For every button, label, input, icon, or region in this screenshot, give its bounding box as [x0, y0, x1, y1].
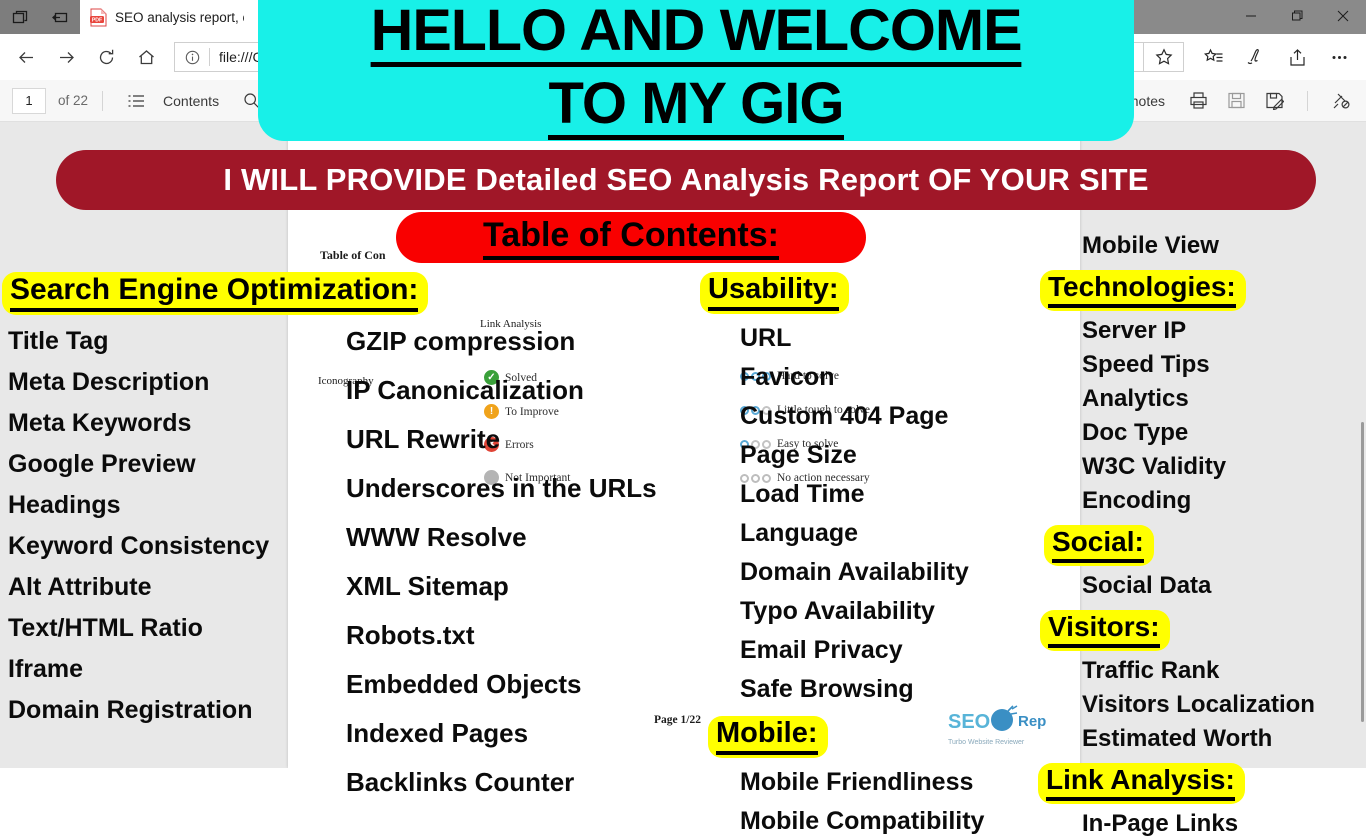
list-item: In-Page Links: [1082, 810, 1315, 838]
visitors-heading-text: Visitors:: [1048, 611, 1160, 648]
refresh-icon[interactable]: [86, 37, 126, 77]
toc-banner: Table of Contents:: [396, 212, 866, 263]
list-item: Social Data: [1082, 572, 1315, 600]
list-item: Embedded Objects: [346, 669, 657, 700]
technologies-heading-text: Technologies:: [1048, 271, 1236, 308]
more-options-icon[interactable]: [1318, 37, 1360, 77]
social-heading-text: Social:: [1052, 526, 1144, 563]
share-icon[interactable]: [1276, 37, 1318, 77]
list-item: URL: [740, 324, 984, 353]
vertical-scrollbar[interactable]: [1361, 422, 1364, 722]
mobile-heading-text: Mobile:: [716, 717, 818, 755]
list-item: Underscores in the URLs: [346, 473, 657, 504]
pdf-page-footer: Page 1/22: [654, 714, 701, 726]
list-item: Robots.txt: [346, 620, 657, 651]
list-item: Custom 404 Page: [740, 402, 984, 431]
list-item: Encoding: [1082, 487, 1315, 515]
pdf-heading: Table of Con: [320, 248, 386, 263]
welcome-line-1: HELLO AND WELCOME: [371, 2, 1022, 67]
unpin-icon[interactable]: [1322, 86, 1360, 116]
list-item: Mobile Compatibility: [740, 807, 984, 836]
social-heading: Social:: [1044, 525, 1154, 566]
list-item: Visitors Localization: [1082, 691, 1315, 719]
list-item: Page Size: [740, 441, 984, 470]
link-analysis-heading-text: Link Analysis:: [1046, 764, 1235, 801]
save-as-icon[interactable]: [1255, 86, 1293, 116]
usability-heading-text: Usability:: [708, 273, 839, 311]
list-item: Mobile Friendliness: [740, 768, 984, 797]
section-usability: Usability: URL Favicon Custom 404 Page P…: [700, 272, 984, 836]
list-item: Traffic Rank: [1082, 657, 1315, 685]
list-item: Safe Browsing: [740, 675, 984, 704]
list-item: Backlinks Counter: [346, 767, 657, 798]
set-tabs-aside-icon[interactable]: [40, 0, 80, 34]
window-controls: [1228, 0, 1366, 32]
back-arrow-icon[interactable]: [6, 37, 46, 77]
list-item: GZIP compression: [346, 326, 657, 357]
toolbar-divider: [102, 91, 103, 111]
list-item: Mobile View: [1082, 232, 1315, 260]
promise-text: I WILL PROVIDE Detailed SEO Analysis Rep…: [223, 162, 1148, 198]
visitors-heading: Visitors:: [1040, 610, 1170, 651]
list-item: XML Sitemap: [346, 571, 657, 602]
info-icon: [175, 50, 209, 65]
list-icon: [117, 86, 155, 116]
link-analysis-heading: Link Analysis:: [1038, 763, 1245, 804]
section-seo-continued: GZIP compression IP Canonicalization URL…: [346, 326, 657, 816]
svg-text:PDF: PDF: [92, 17, 102, 23]
usability-heading: Usability:: [700, 272, 849, 314]
list-item: Analytics: [1082, 385, 1315, 413]
forward-arrow-icon[interactable]: [46, 37, 86, 77]
promise-banner: I WILL PROVIDE Detailed SEO Analysis Rep…: [56, 150, 1316, 210]
print-icon[interactable]: [1179, 86, 1217, 116]
list-item: Favicon: [740, 363, 984, 392]
list-item: W3C Validity: [1082, 453, 1315, 481]
mobile-heading: Mobile:: [708, 716, 828, 758]
web-notes-icon[interactable]: [1234, 37, 1276, 77]
welcome-banner: HELLO AND WELCOME TO MY GIG: [258, 0, 1134, 141]
contents-label: Contents: [163, 93, 219, 109]
browser-tab[interactable]: PDF SEO analysis report, cor ×: [80, 0, 280, 34]
home-icon[interactable]: [126, 37, 166, 77]
list-item: Indexed Pages: [346, 718, 657, 749]
list-item: Email Privacy: [740, 636, 984, 665]
list-item: Language: [740, 519, 984, 548]
toc-title: Table of Contents:: [483, 216, 779, 260]
seo-heading: Search Engine Optimization:: [2, 272, 428, 315]
page-number-input[interactable]: 1: [12, 88, 46, 114]
minimize-icon[interactable]: [1228, 0, 1274, 32]
pdf-toolbar-right: add notes: [1104, 86, 1361, 116]
favorites-list-icon[interactable]: [1192, 37, 1234, 77]
list-item: Typo Availability: [740, 597, 984, 626]
save-icon[interactable]: [1217, 86, 1255, 116]
technologies-heading: Technologies:: [1040, 270, 1246, 311]
page-total-label: of 22: [58, 93, 88, 108]
pdf-icon: PDF: [90, 8, 107, 27]
list-item: IP Canonicalization: [346, 375, 657, 406]
list-item: Domain Availability: [740, 558, 984, 587]
close-icon[interactable]: [1320, 0, 1366, 32]
contents-button[interactable]: Contents: [117, 86, 219, 116]
list-item: Doc Type: [1082, 419, 1315, 447]
list-item: WWW Resolve: [346, 522, 657, 553]
section-technologies: Mobile View Technologies: Server IP Spee…: [1040, 232, 1315, 838]
list-item: Speed Tips: [1082, 351, 1315, 379]
seo-heading-text: Search Engine Optimization:: [10, 273, 418, 312]
star-icon[interactable]: [1144, 42, 1184, 72]
list-item: Estimated Worth: [1082, 725, 1315, 753]
list-item: URL Rewrite: [346, 424, 657, 455]
list-item: Server IP: [1082, 317, 1315, 345]
browser-window: PDF SEO analysis report, cor × +: [0, 0, 1366, 768]
maximize-icon[interactable]: [1274, 0, 1320, 32]
list-item: Load Time: [740, 480, 984, 509]
tab-title: SEO analysis report, cor: [115, 10, 244, 25]
tab-preview-icon[interactable]: [0, 0, 40, 34]
welcome-line-2: TO MY GIG: [548, 75, 843, 140]
toolbar-divider-2: [1307, 91, 1308, 111]
